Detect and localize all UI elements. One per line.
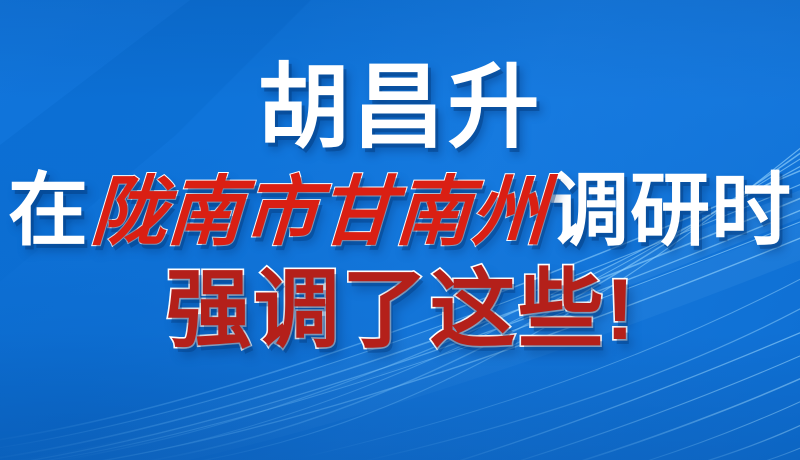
headline-block: 胡昌升 在 陇南市甘南州 调研时 强调了这些! (0, 0, 800, 460)
headline-line-3: 强调了这些! (166, 267, 635, 353)
headline-line-2-suffix: 调研时 (549, 171, 792, 251)
headline-line-2: 在 陇南市甘南州 调研时 (8, 171, 792, 251)
headline-line-2-prefix: 在 (8, 171, 89, 251)
headline-line-3-text: 强调了这些 (166, 262, 606, 358)
headline-line-2-emphasis-locations: 陇南市甘南州 (87, 174, 551, 250)
poster-canvas: 胡昌升 在 陇南市甘南州 调研时 强调了这些! (0, 0, 800, 460)
headline-line-3-exclamation: ! (606, 262, 635, 358)
headline-line-1-name: 胡昌升 (257, 62, 542, 154)
